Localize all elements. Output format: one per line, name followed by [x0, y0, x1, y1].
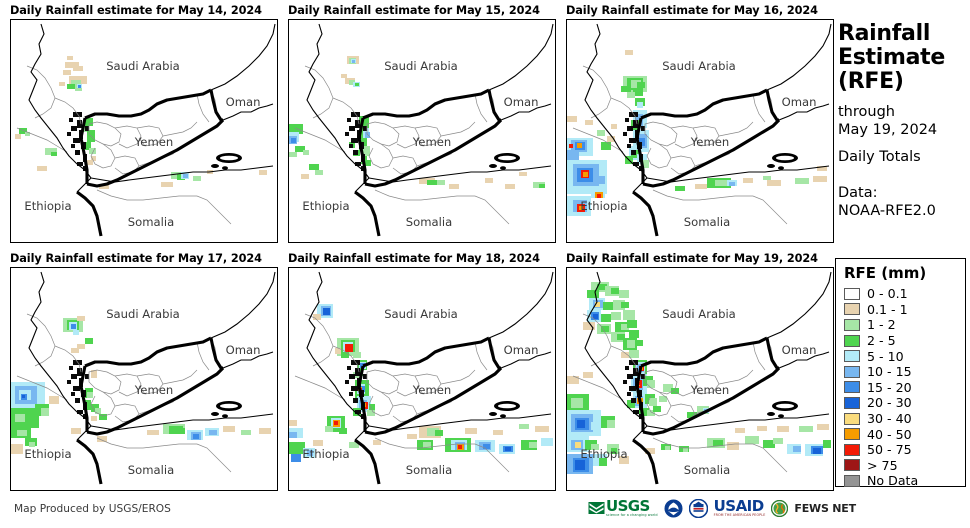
panel-title: Daily Rainfall estimate for May 15, 2024 — [288, 4, 556, 17]
map-frame[interactable]: Saudi ArabiaOmanYemenEthiopiaSomalia — [288, 19, 556, 243]
svg-text:Saudi Arabia: Saudi Arabia — [106, 59, 180, 73]
svg-text:Oman: Oman — [226, 95, 261, 109]
panel-may-18: Daily Rainfall estimate for May 18, 2024… — [288, 252, 556, 491]
legend-swatch — [844, 335, 860, 347]
svg-text:Ethiopia: Ethiopia — [580, 199, 627, 213]
data-label: Data: — [838, 184, 970, 202]
legend-swatch — [844, 381, 860, 393]
usgs-logo[interactable]: USGS science for a changing world — [588, 500, 658, 517]
svg-text:Ethiopia: Ethiopia — [580, 447, 627, 461]
panel-may-17: Daily Rainfall estimate for May 17, 2024… — [10, 252, 278, 491]
svg-text:Saudi Arabia: Saudi Arabia — [662, 59, 736, 73]
panel-title: Daily Rainfall estimate for May 18, 2024 — [288, 252, 556, 265]
panel-title: Daily Rainfall estimate for May 19, 2024 — [566, 252, 834, 265]
legend-row: 40 - 50 — [844, 426, 965, 442]
svg-text:Oman: Oman — [782, 343, 817, 357]
svg-text:Oman: Oman — [504, 343, 539, 357]
svg-text:Saudi Arabia: Saudi Arabia — [384, 59, 458, 73]
legend-row: 0.1 - 1 — [844, 302, 965, 318]
legend-swatch — [844, 397, 860, 409]
legend-label: 5 - 10 — [867, 349, 904, 364]
legend-label: 1 - 2 — [867, 317, 896, 332]
map-frame[interactable]: Saudi ArabiaOmanYemenEthiopiaSomalia — [10, 267, 278, 491]
svg-text:Yemen: Yemen — [690, 383, 729, 397]
map-frame[interactable]: Saudi ArabiaOmanYemenEthiopiaSomalia — [288, 267, 556, 491]
legend-swatch — [844, 428, 860, 440]
legend-label: 15 - 20 — [867, 380, 912, 395]
title-line-2: Estimate — [838, 46, 970, 70]
svg-text:Yemen: Yemen — [134, 135, 173, 149]
map-frame[interactable]: Saudi ArabiaOmanYemenEthiopiaSomalia — [10, 19, 278, 243]
legend-label: 50 - 75 — [867, 442, 912, 457]
svg-text:Somalia: Somalia — [128, 215, 174, 229]
legend-label: 2 - 5 — [867, 333, 896, 348]
rainfall-map-may-18: Saudi ArabiaOmanYemenEthiopiaSomalia — [289, 268, 555, 490]
svg-text:Saudi Arabia: Saudi Arabia — [662, 307, 736, 321]
svg-text:Saudi Arabia: Saudi Arabia — [384, 307, 458, 321]
panel-may-16: Daily Rainfall estimate for May 16, 2024… — [566, 4, 834, 243]
panel-may-19: Daily Rainfall estimate for May 19, 2024… — [566, 252, 834, 491]
legend-rows: 0 - 0.10.1 - 11 - 22 - 55 - 1010 - 1515 … — [844, 286, 965, 489]
panel-may-14: Daily Rainfall estimate for May 14, 2024… — [10, 4, 278, 243]
fews-net-logo[interactable]: FEWS NET — [771, 500, 856, 517]
svg-text:Yemen: Yemen — [134, 383, 173, 397]
svg-text:Somalia: Somalia — [406, 215, 452, 229]
svg-text:Somalia: Somalia — [406, 463, 452, 477]
legend-swatch — [844, 444, 860, 456]
usaid-logo[interactable]: USAID FROM THE AMERICAN PEOPLE — [714, 500, 766, 517]
legend-swatch — [844, 366, 860, 378]
legend-label: > 75 — [867, 458, 898, 473]
svg-text:Yemen: Yemen — [412, 135, 451, 149]
legend-label: No Data — [867, 473, 918, 488]
doc-logo[interactable] — [689, 499, 708, 518]
usgs-wordmark: USGS — [606, 500, 658, 513]
svg-text:Yemen: Yemen — [412, 383, 451, 397]
panel-may-15: Daily Rainfall estimate for May 15, 2024… — [288, 4, 556, 243]
svg-text:Somalia: Somalia — [684, 215, 730, 229]
legend-row: 5 - 10 — [844, 348, 965, 364]
legend-swatch — [844, 303, 860, 315]
through-date: May 19, 2024 — [838, 121, 970, 139]
legend-row: 15 - 20 — [844, 380, 965, 396]
legend-swatch — [844, 350, 860, 362]
legend-swatch — [844, 413, 860, 425]
rainfall-map-may-15: Saudi ArabiaOmanYemenEthiopiaSomalia — [289, 20, 555, 242]
legend-row: 2 - 5 — [844, 333, 965, 349]
legend-row: 50 - 75 — [844, 442, 965, 458]
panel-title: Daily Rainfall estimate for May 17, 2024 — [10, 252, 278, 265]
svg-text:Oman: Oman — [226, 343, 261, 357]
legend-label: 20 - 30 — [867, 395, 912, 410]
noaa-logo[interactable] — [664, 499, 683, 518]
logo-bar: USGS science for a changing world USAID … — [588, 499, 856, 518]
producer-credit: Map Produced by USGS/EROS — [14, 503, 171, 515]
title-block: Rainfall Estimate (RFE) through May 19, … — [838, 22, 970, 220]
usaid-tagline: FROM THE AMERICAN PEOPLE — [714, 513, 766, 517]
fews-net-wordmark: FEWS NET — [794, 502, 856, 515]
legend-row: 30 - 40 — [844, 411, 965, 427]
usgs-mark-icon — [588, 500, 605, 517]
svg-text:Somalia: Somalia — [684, 463, 730, 477]
svg-text:Ethiopia: Ethiopia — [24, 447, 71, 461]
legend-row: 20 - 30 — [844, 395, 965, 411]
svg-text:Ethiopia: Ethiopia — [24, 199, 71, 213]
legend-label: 30 - 40 — [867, 411, 912, 426]
legend-label: 0 - 0.1 — [867, 286, 908, 301]
title-line-3: (RFE) — [838, 70, 970, 94]
through-label: through — [838, 103, 970, 121]
svg-text:Saudi Arabia: Saudi Arabia — [106, 307, 180, 321]
title-line-1: Rainfall — [838, 22, 970, 46]
svg-text:Somalia: Somalia — [128, 463, 174, 477]
usgs-tagline: science for a changing world — [606, 513, 658, 517]
rainfall-map-may-14: Saudi ArabiaOmanYemenEthiopiaSomalia — [11, 20, 277, 242]
data-source: NOAA-RFE2.0 — [838, 202, 970, 220]
legend-swatch — [844, 288, 860, 300]
legend-row: > 75 — [844, 458, 965, 474]
legend-label: 0.1 - 1 — [867, 302, 908, 317]
legend-label: 40 - 50 — [867, 427, 912, 442]
fews-globe-icon — [771, 500, 788, 517]
panel-title: Daily Rainfall estimate for May 14, 2024 — [10, 4, 278, 17]
rainfall-map-may-19: Saudi ArabiaOmanYemenEthiopiaSomalia — [567, 268, 833, 490]
svg-text:Oman: Oman — [782, 95, 817, 109]
usaid-wordmark: USAID — [714, 500, 766, 513]
rainfall-map-may-17: Saudi ArabiaOmanYemenEthiopiaSomalia — [11, 268, 277, 490]
map-frame[interactable]: Saudi ArabiaOmanYemenEthiopiaSomalia — [566, 19, 834, 243]
legend-row: 1 - 2 — [844, 317, 965, 333]
svg-text:Ethiopia: Ethiopia — [302, 447, 349, 461]
legend-swatch — [844, 319, 860, 331]
legend-row: No Data — [844, 473, 965, 489]
legend-row: 0 - 0.1 — [844, 286, 965, 302]
legend-label: 10 - 15 — [867, 364, 912, 379]
noaa-seal-icon — [664, 499, 683, 518]
svg-text:Ethiopia: Ethiopia — [302, 199, 349, 213]
rfe-legend: RFE (mm) 0 - 0.10.1 - 11 - 22 - 55 - 101… — [835, 258, 966, 487]
daily-totals-label: Daily Totals — [838, 148, 970, 166]
commerce-seal-icon — [689, 499, 708, 518]
legend-row: 10 - 15 — [844, 364, 965, 380]
svg-text:Oman: Oman — [504, 95, 539, 109]
rainfall-map-may-16: Saudi ArabiaOmanYemenEthiopiaSomalia — [567, 20, 833, 242]
map-frame[interactable]: Saudi ArabiaOmanYemenEthiopiaSomalia — [566, 267, 834, 491]
legend-swatch — [844, 475, 860, 487]
svg-text:Yemen: Yemen — [690, 135, 729, 149]
legend-title: RFE (mm) — [844, 264, 965, 282]
legend-swatch — [844, 459, 860, 471]
panel-title: Daily Rainfall estimate for May 16, 2024 — [566, 4, 834, 17]
